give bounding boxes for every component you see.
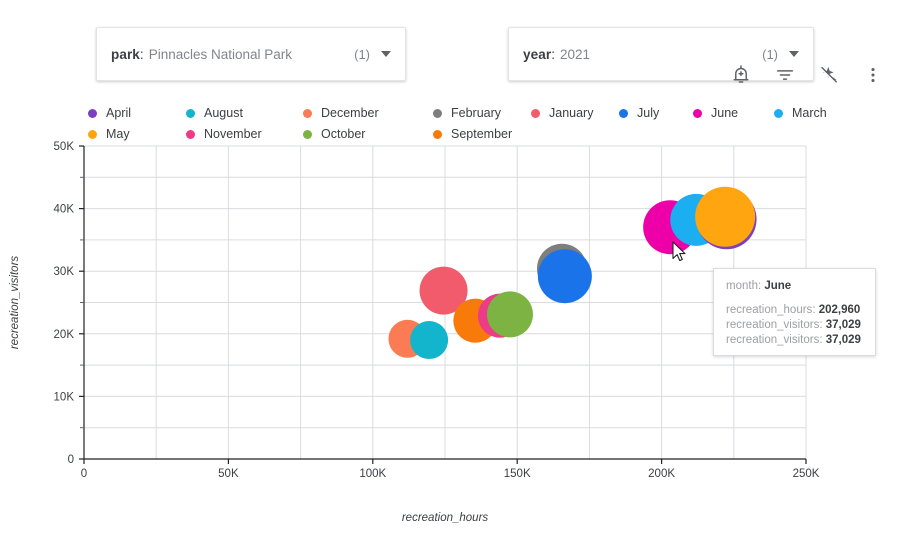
legend-label: December: [321, 106, 379, 120]
bubble-circle[interactable]: [420, 267, 468, 315]
legend-item-may[interactable]: May: [88, 125, 130, 143]
mouse-cursor: [672, 241, 688, 263]
bubble-november[interactable]: [478, 294, 522, 338]
tooltip-row-visitors-2: recreation_visitors: 37,029: [726, 333, 863, 348]
tooltip-visitors-key-1: recreation_visitors: [726, 319, 819, 331]
legend-label: September: [451, 127, 512, 141]
legend-item-june[interactable]: June: [693, 104, 738, 122]
chart-tooltip: month: June recreation_hours: 202,960 re…: [713, 268, 876, 356]
filter-park-name: park: [111, 47, 140, 62]
alert-bell-icon[interactable]: [730, 64, 752, 86]
legend-color-dot: [88, 130, 97, 139]
bubble-circle[interactable]: [643, 200, 697, 254]
bubble-march[interactable]: [670, 194, 722, 246]
bubble-july[interactable]: [538, 249, 592, 303]
bubble-august[interactable]: [410, 321, 448, 359]
legend-label: May: [106, 127, 130, 141]
legend-color-dot: [619, 109, 628, 118]
legend-item-july[interactable]: July: [619, 104, 659, 122]
legend-color-dot: [303, 109, 312, 118]
bubble-circle[interactable]: [697, 189, 757, 249]
spark-off-icon[interactable]: [818, 64, 840, 86]
bubble-circle[interactable]: [670, 194, 722, 246]
tooltip-hours-key: recreation_hours: [726, 304, 812, 316]
tooltip-visitors-key-2: recreation_visitors: [726, 334, 819, 346]
legend-item-august[interactable]: August: [186, 104, 243, 122]
legend-color-dot: [186, 109, 195, 118]
y-tick-label: 0: [68, 454, 74, 466]
dashboard-root: park : Pinnacles National Park (1) year …: [0, 0, 904, 554]
legend-label: January: [549, 106, 593, 120]
legend-label: November: [204, 127, 262, 141]
legend-item-december[interactable]: December: [303, 104, 379, 122]
y-axis-title: recreation_visitors: [9, 256, 21, 350]
tooltip-row-month: month: June: [726, 279, 863, 294]
more-vert-icon[interactable]: [862, 64, 884, 86]
legend-label: February: [451, 106, 501, 120]
legend-label: August: [204, 106, 243, 120]
tooltip-visitors-value-2: 37,029: [826, 334, 861, 346]
bubble-february[interactable]: [537, 244, 587, 294]
legend-color-dot: [774, 109, 783, 118]
legend-label: June: [711, 106, 738, 120]
x-tick-label: 200K: [648, 468, 675, 480]
legend-item-january[interactable]: January: [531, 104, 593, 122]
filter-year-name: year: [523, 47, 551, 62]
tooltip-row-visitors-1: recreation_visitors: 37,029: [726, 318, 863, 333]
legend-label: April: [106, 106, 131, 120]
legend-color-dot: [531, 109, 540, 118]
filter-park-count: (1): [354, 47, 370, 62]
chart-toolbar: [730, 64, 884, 86]
filter-year-value: 2021: [560, 47, 590, 62]
y-tick-label: 20K: [54, 329, 75, 341]
x-tick-label: 250K: [793, 468, 820, 480]
filter-park-separator: :: [140, 47, 144, 62]
legend-color-dot: [433, 130, 442, 139]
legend-color-dot: [693, 109, 702, 118]
bubble-may[interactable]: [695, 187, 755, 247]
legend-color-dot: [303, 130, 312, 139]
legend-item-october[interactable]: October: [303, 125, 365, 143]
x-axis-title: recreation_hours: [402, 512, 489, 524]
legend-color-dot: [433, 109, 442, 118]
filter-park-value: Pinnacles National Park: [149, 47, 292, 62]
y-tick-label: 10K: [54, 391, 75, 403]
chevron-down-icon[interactable]: [381, 51, 391, 57]
bubble-circle[interactable]: [537, 244, 587, 294]
y-tick-label: 30K: [54, 266, 75, 278]
tooltip-visitors-value-1: 37,029: [826, 319, 861, 331]
bubble-circle[interactable]: [453, 299, 497, 343]
bubble-january[interactable]: [420, 267, 468, 315]
filter-year-separator: :: [551, 47, 555, 62]
chevron-down-icon[interactable]: [789, 51, 799, 57]
bubble-circle[interactable]: [538, 249, 592, 303]
x-tick-label: 50K: [218, 468, 239, 480]
legend-label: March: [792, 106, 827, 120]
filter-icon[interactable]: [774, 64, 796, 86]
filter-card-park[interactable]: park : Pinnacles National Park (1): [96, 27, 406, 81]
filter-year-count: (1): [762, 47, 778, 62]
legend-item-april[interactable]: April: [88, 104, 131, 122]
bubble-june[interactable]: [643, 200, 697, 254]
x-tick-label: 0: [81, 468, 87, 480]
bubble-circle[interactable]: [487, 291, 533, 337]
legend-item-march[interactable]: March: [774, 104, 827, 122]
legend-label: October: [321, 127, 365, 141]
y-tick-label: 40K: [54, 204, 75, 216]
plot-background: [84, 146, 806, 459]
bubble-april[interactable]: [697, 189, 757, 249]
x-tick-label: 100K: [359, 468, 386, 480]
chart-legend: AprilAugustDecemberFebruaryJanuaryJulyJu…: [88, 104, 828, 146]
bubble-circle[interactable]: [478, 294, 522, 338]
bubble-circle[interactable]: [410, 321, 448, 359]
x-tick-label: 150K: [504, 468, 531, 480]
legend-color-dot: [186, 130, 195, 139]
bubble-december[interactable]: [388, 320, 426, 358]
legend-label: July: [637, 106, 659, 120]
legend-item-february[interactable]: February: [433, 104, 501, 122]
tooltip-hours-value: 202,960: [819, 304, 861, 316]
bubble-october[interactable]: [487, 291, 533, 337]
tooltip-month-value: June: [764, 280, 791, 292]
tooltip-row-hours: recreation_hours: 202,960: [726, 303, 863, 318]
legend-item-november[interactable]: November: [186, 125, 262, 143]
legend-item-september[interactable]: September: [433, 125, 512, 143]
legend-color-dot: [88, 109, 97, 118]
bubble-september[interactable]: [453, 299, 497, 343]
bubble-circle[interactable]: [388, 320, 426, 358]
y-tick-label: 50K: [54, 141, 75, 153]
tooltip-month-key: month: [726, 280, 758, 292]
bubble-circle[interactable]: [695, 187, 755, 247]
